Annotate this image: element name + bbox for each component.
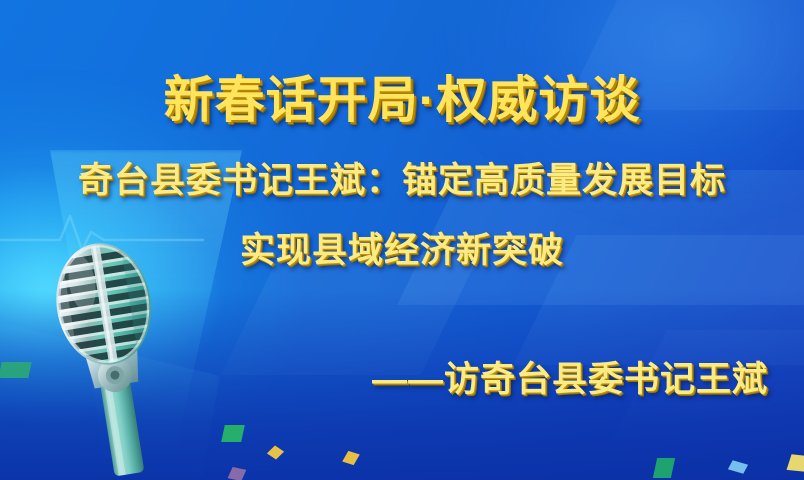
subtitle-line-1: 奇台县委书记王斌：锚定高质量发展目标: [0, 152, 804, 203]
page-title: 新春话开局·权威访谈: [0, 60, 804, 132]
poster-banner: 新春话开局·权威访谈 奇台县委书记王斌：锚定高质量发展目标 实现县域经济新突破 …: [0, 0, 804, 480]
text-layer: 新春话开局·权威访谈 奇台县委书记王斌：锚定高质量发展目标 实现县域经济新突破 …: [0, 0, 804, 480]
byline-attribution: ——访奇台县委书记王斌: [372, 351, 768, 402]
subtitle-line-2: 实现县域经济新突破: [0, 222, 804, 273]
